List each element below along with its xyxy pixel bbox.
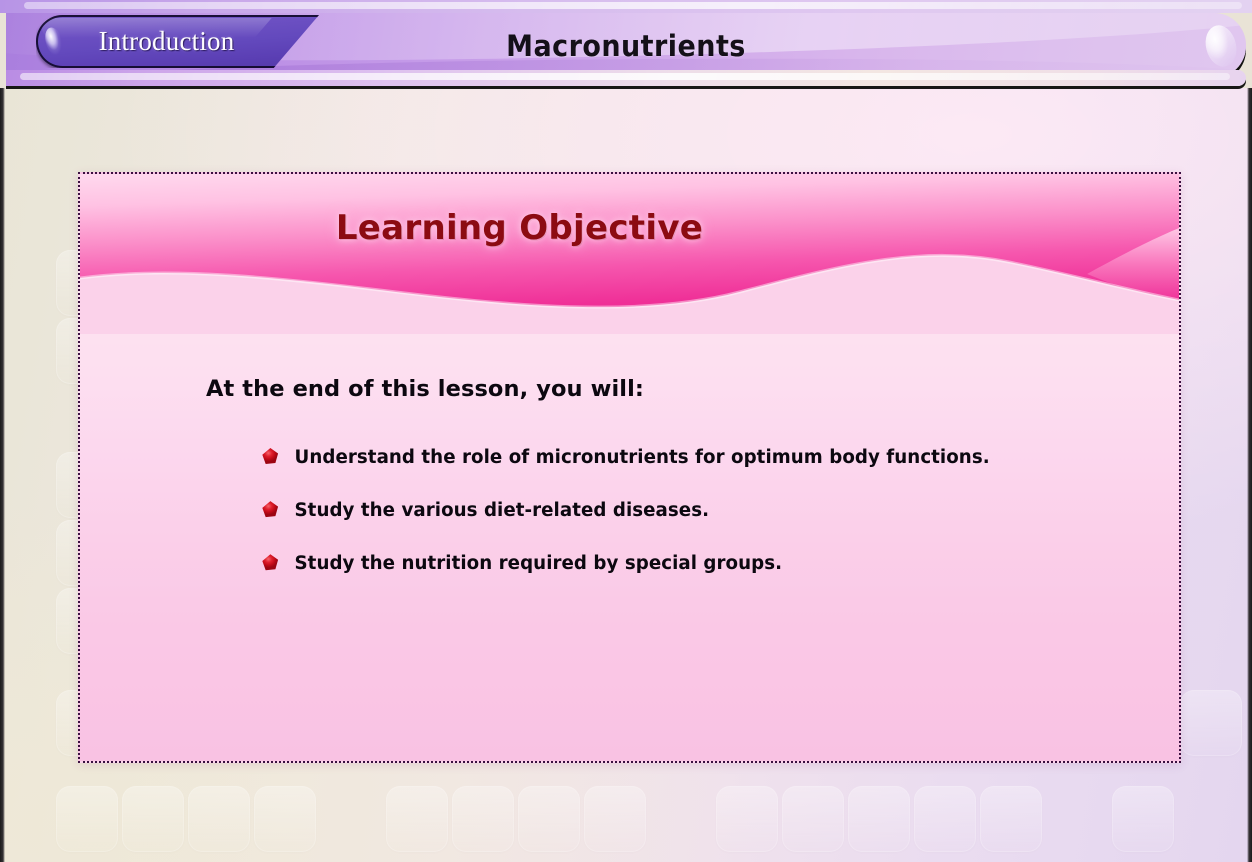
panel-lead-text: At the end of this lesson, you will: <box>206 376 644 402</box>
list-item: Study the various diet-related diseases. <box>262 499 1126 522</box>
slide-left-edge <box>0 88 5 862</box>
panel-wave-decoration <box>80 174 1179 334</box>
red-pentagon-bullet-icon <box>262 501 279 518</box>
red-pentagon-bullet-icon <box>262 448 279 465</box>
tab-introduction[interactable]: Introduction <box>36 15 319 68</box>
content-panel: Learning Objective At the end of this le… <box>78 172 1181 763</box>
slide-right-edge <box>1247 88 1252 862</box>
tab-introduction-label: Introduction <box>36 15 319 68</box>
header-top-strip <box>0 0 1252 13</box>
panel-title: Learning Objective <box>80 208 1179 248</box>
list-item-label: Understand the role of micronutrients fo… <box>295 447 990 468</box>
slide-stage: Macronutrients Introduction <box>0 0 1252 862</box>
list-item: Study the nutrition required by special … <box>262 552 1126 575</box>
list-item: Understand the role of micronutrients fo… <box>262 446 1126 469</box>
list-item-label: Study the nutrition required by special … <box>295 553 783 574</box>
gloss-bead-icon-right <box>1201 22 1240 70</box>
header-reflection-strip <box>6 70 1246 86</box>
list-item-label: Study the various diet-related diseases. <box>295 500 710 521</box>
red-pentagon-bullet-icon <box>262 554 279 571</box>
header: Macronutrients Introduction <box>0 0 1252 92</box>
objectives-list: Understand the role of micronutrients fo… <box>262 446 1139 575</box>
